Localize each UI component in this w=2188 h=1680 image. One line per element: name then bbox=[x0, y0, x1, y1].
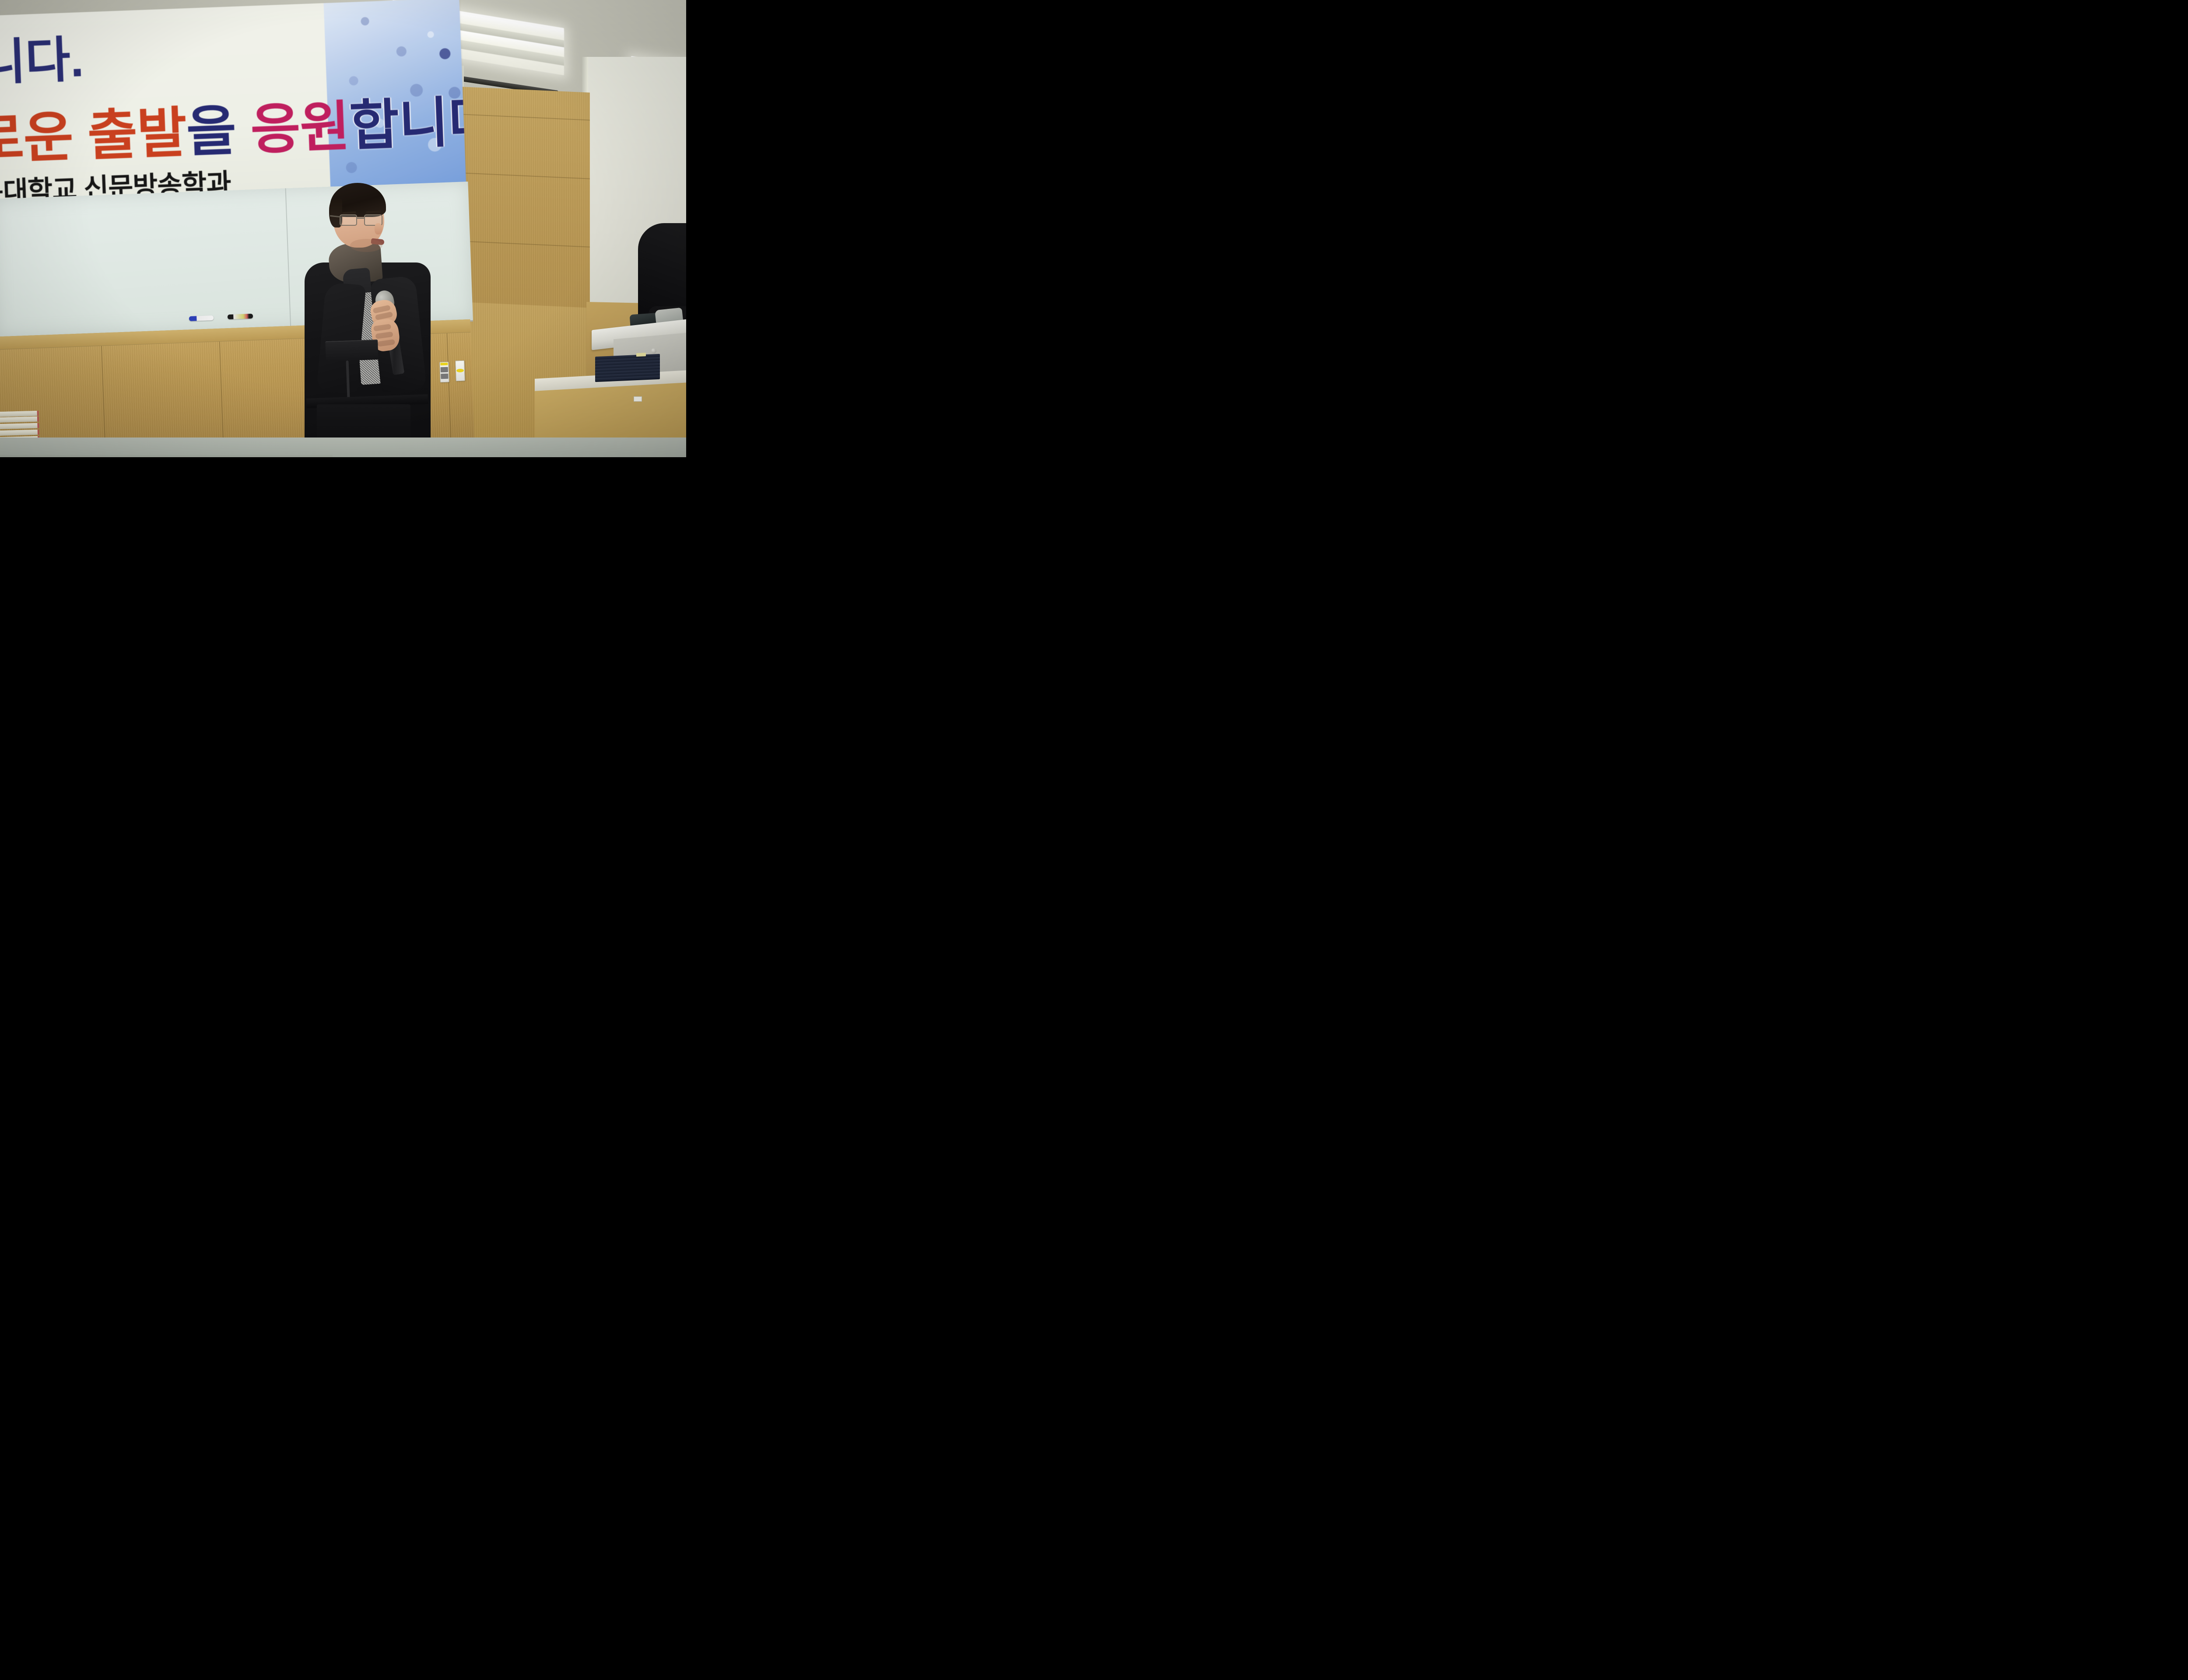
book bbox=[0, 430, 39, 436]
outlet-yellow-dot bbox=[456, 369, 464, 373]
book bbox=[0, 423, 39, 430]
jacket-pocket bbox=[325, 339, 379, 361]
marker-black[interactable] bbox=[228, 314, 253, 319]
speaker-chin-shadow bbox=[350, 239, 382, 252]
wall-outlet-right[interactable] bbox=[455, 360, 465, 381]
book bbox=[0, 416, 39, 423]
event-banner: 니다. 로운 출발을 응원합니다! 구대학교 신문방송학과 bbox=[0, 0, 466, 213]
whiteboard-seam bbox=[285, 188, 291, 327]
outlet-socket bbox=[441, 367, 448, 373]
banner-segment-navy-2: 합니다! bbox=[348, 90, 466, 157]
asset-label-sticker bbox=[634, 396, 642, 402]
banner-segment-red-2: 출발 bbox=[87, 102, 188, 166]
glasses-lens-left bbox=[340, 214, 357, 226]
outlet-yellow-label bbox=[440, 363, 448, 366]
wood-seam bbox=[446, 333, 452, 447]
finger bbox=[375, 332, 393, 339]
folder-gold-tag bbox=[636, 353, 646, 357]
glasses-bridge bbox=[357, 217, 364, 219]
certificate-folder-stack[interactable] bbox=[595, 354, 660, 380]
photo-scene: 니다. 로운 출발을 응원합니다! 구대학교 신문방송학과 bbox=[0, 0, 686, 457]
wall-outlet-left[interactable] bbox=[439, 362, 449, 383]
speaker-with-microphone bbox=[302, 183, 433, 457]
floor bbox=[0, 437, 686, 457]
finger bbox=[377, 339, 395, 346]
banner-line-top: 니다. bbox=[0, 35, 84, 88]
lectern-screw bbox=[651, 348, 656, 353]
speaker-nose bbox=[375, 223, 382, 234]
banner-segment-navy: 을 bbox=[186, 100, 252, 163]
wood-seam bbox=[459, 114, 590, 121]
finger bbox=[373, 324, 391, 331]
wood-seam bbox=[459, 241, 590, 248]
banner-segment-red: 로운 bbox=[0, 106, 89, 171]
banner-segment-pink: 응원 bbox=[249, 96, 351, 160]
right-wood-panel-upper bbox=[459, 87, 590, 314]
outlet-socket bbox=[441, 374, 448, 379]
floor-left-strip bbox=[0, 455, 333, 457]
wood-seam bbox=[459, 172, 590, 179]
marker-blue[interactable] bbox=[189, 315, 214, 321]
